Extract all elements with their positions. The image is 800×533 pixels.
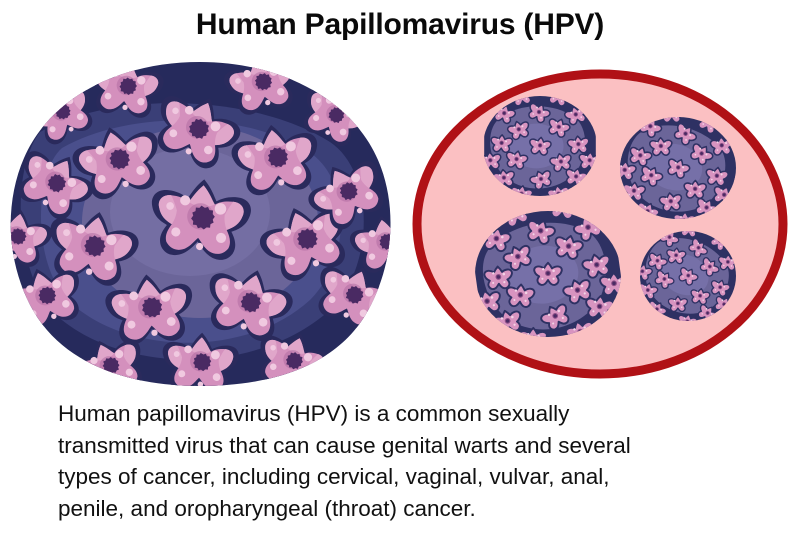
- cell-membrane: [417, 74, 783, 374]
- hpv-cell-svg: [400, 52, 800, 392]
- hpv-infected-cell-figure: [400, 52, 800, 392]
- capsid-body: [0, 52, 400, 392]
- caption-line-4: penile, and oropharyngeal (throat) cance…: [58, 493, 758, 525]
- caption-line-2: transmitted virus that can cause genital…: [58, 430, 758, 462]
- page-title: Human Papillomavirus (HPV): [0, 6, 800, 44]
- figure-row: [0, 52, 800, 392]
- illustration-page: Human Papillomavirus (HPV): [0, 0, 800, 533]
- caption-line-3: types of cancer, including cervical, vag…: [58, 461, 758, 493]
- caption-block: Human papillomavirus (HPV) is a common s…: [58, 398, 758, 524]
- caption-line-1: Human papillomavirus (HPV) is a common s…: [58, 398, 758, 430]
- hpv-capsid-svg: [0, 52, 400, 392]
- hpv-capsid-magnified-figure: [0, 52, 400, 392]
